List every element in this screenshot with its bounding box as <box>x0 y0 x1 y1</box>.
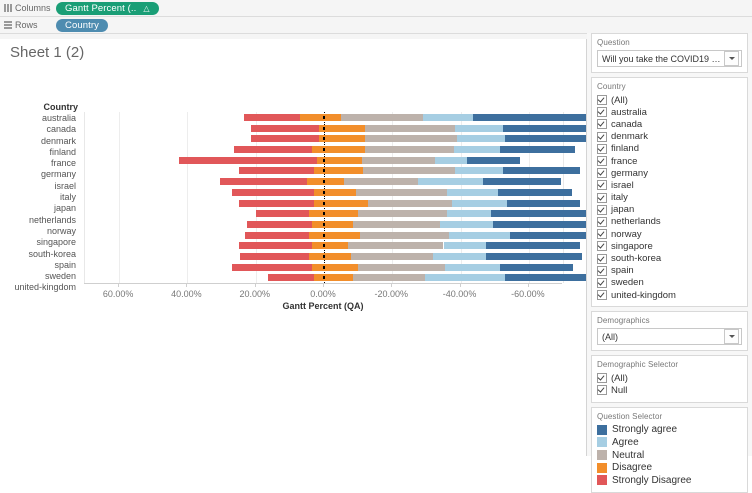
country-checkbox-south-korea[interactable]: south-korea <box>597 252 742 264</box>
bar-segment[interactable] <box>435 157 467 164</box>
checkbox-label: denmark <box>611 131 648 142</box>
bar-segment[interactable] <box>245 232 308 239</box>
legend-label: Disagree <box>612 462 652 473</box>
zero-marker <box>323 202 325 205</box>
checkbox-icon[interactable] <box>597 144 607 154</box>
legend-color-swatch <box>597 463 607 473</box>
bar-segment[interactable] <box>440 221 493 228</box>
page-title: Sheet 1 (2) <box>10 44 84 61</box>
bar-segment[interactable] <box>247 221 312 228</box>
zero-marker <box>323 244 325 247</box>
pill-gantt-percent[interactable]: Gantt Percent (.. △ <box>56 2 159 15</box>
checkbox-icon[interactable] <box>597 168 607 178</box>
legend-color-swatch <box>597 437 607 447</box>
bar-segment[interactable] <box>457 135 505 142</box>
bar-segment[interactable] <box>309 253 352 260</box>
bar-segment[interactable] <box>251 125 319 132</box>
bar-segment[interactable] <box>356 189 446 196</box>
country-checkbox-australia[interactable]: australia <box>597 106 742 118</box>
bar-segment[interactable] <box>309 210 359 217</box>
legend-item[interactable]: Agree <box>597 436 742 449</box>
columns-shelf-label: Columns <box>0 3 56 13</box>
bar-segment[interactable] <box>491 210 587 217</box>
bar-segment[interactable] <box>268 274 314 281</box>
legend-label: Agree <box>612 437 639 448</box>
pill-country-label: Country <box>65 20 99 31</box>
bar-segment[interactable] <box>486 253 582 260</box>
checkbox-icon[interactable] <box>597 373 607 383</box>
bar-segment[interactable] <box>444 242 487 249</box>
axis-tick <box>323 283 324 287</box>
bar-segment[interactable] <box>314 274 353 281</box>
checkbox-label: france <box>611 156 637 167</box>
bar-segment[interactable] <box>358 210 447 217</box>
country-checkbox-united-kingdom[interactable]: united-kingdom <box>597 289 742 301</box>
bar-segment[interactable] <box>500 264 573 271</box>
checkbox-label: (All) <box>611 95 628 106</box>
bar-segment[interactable] <box>314 167 364 174</box>
zero-marker <box>323 234 325 237</box>
bar-segment[interactable] <box>449 232 510 239</box>
bar-segment[interactable] <box>503 125 587 132</box>
tableau-workbook: Columns Gantt Percent (.. △ Rows Country… <box>0 0 752 456</box>
row-label: australia <box>0 113 78 124</box>
bar-segment[interactable] <box>433 253 486 260</box>
question-filter-card: Question Will you take the COVID19 vacci… <box>591 33 748 73</box>
row-label: france <box>0 158 78 169</box>
bar-segment[interactable] <box>493 221 587 228</box>
delta-icon: △ <box>143 4 149 13</box>
zero-marker <box>323 137 325 140</box>
bar-segment[interactable] <box>498 189 571 196</box>
legend-label: Strongly Disagree <box>612 475 691 486</box>
chevron-down-icon[interactable] <box>724 329 739 344</box>
zero-marker <box>323 169 325 172</box>
zero-marker <box>323 159 325 162</box>
zero-marker <box>323 127 325 130</box>
checkbox-label: united-kingdom <box>611 290 676 301</box>
axis-tick <box>118 283 119 287</box>
color-legend-list: Strongly agreeAgreeNeutralDisagreeStrong… <box>597 424 742 487</box>
columns-shelf[interactable]: Columns Gantt Percent (.. △ <box>0 0 752 17</box>
bar-segment[interactable] <box>368 200 452 207</box>
question-selector-title: Question Selector <box>597 412 742 421</box>
checkbox-label: Null <box>611 385 627 396</box>
country-checkbox-finland[interactable]: finland <box>597 143 742 155</box>
bar-segment[interactable] <box>312 242 348 249</box>
zero-marker <box>323 148 325 151</box>
country-checkbox-sweden[interactable]: sweden <box>597 277 742 289</box>
bar-segment[interactable] <box>445 264 500 271</box>
bar-segment[interactable] <box>423 114 473 121</box>
checkbox-icon[interactable] <box>597 156 607 166</box>
bar-segment[interactable] <box>314 189 357 196</box>
checkbox-label: israel <box>611 180 634 191</box>
bar-segment[interactable] <box>307 178 345 185</box>
bar-segment[interactable] <box>309 232 360 239</box>
bar-segment[interactable] <box>455 125 503 132</box>
bar-segment[interactable] <box>312 146 365 153</box>
checkbox-label: singapore <box>611 241 653 252</box>
checkbox-label: italy <box>611 192 628 203</box>
axis-tick <box>528 283 529 287</box>
country-checkbox-canada[interactable]: canada <box>597 118 742 130</box>
bar-segment[interactable] <box>314 200 369 207</box>
demographics-filter-dropdown[interactable]: (All) <box>597 328 742 345</box>
bar-segment[interactable] <box>251 135 319 142</box>
row-label: singapore <box>0 237 78 248</box>
demographic-selector-card: Demographic Selector (All)Null <box>591 355 748 402</box>
axis-tick <box>460 283 461 287</box>
bar-segment[interactable] <box>486 242 580 249</box>
checkbox-icon[interactable] <box>597 180 607 190</box>
bar-segment[interactable] <box>365 146 454 153</box>
row-label: denmark <box>0 136 78 147</box>
axis-tick <box>391 283 392 287</box>
zero-marker <box>323 191 325 194</box>
country-checkbox-france[interactable]: france <box>597 155 742 167</box>
bar-segment[interactable] <box>360 232 449 239</box>
checkbox-icon[interactable] <box>597 290 607 300</box>
bar-segment[interactable] <box>418 178 483 185</box>
checkbox-label: germany <box>611 168 648 179</box>
bar-segment[interactable] <box>365 135 457 142</box>
bar-segment[interactable] <box>239 242 312 249</box>
bar-segment[interactable] <box>365 125 455 132</box>
row-label: spain <box>0 260 78 271</box>
bar-segment[interactable] <box>505 135 587 142</box>
country-filter-card: Country (All)australiacanadadenmarkfinla… <box>591 77 748 307</box>
country-checkbox-all[interactable]: (All) <box>597 94 742 106</box>
checkbox-icon[interactable] <box>597 205 607 215</box>
x-axis: 60.00%40.00%20.00%0.00%-20.00%-40.00%-60… <box>84 283 562 284</box>
bar-segment[interactable] <box>510 232 587 239</box>
zero-marker <box>323 116 325 119</box>
bar-segment[interactable] <box>319 135 365 142</box>
checkbox-icon[interactable] <box>597 266 607 276</box>
x-axis-title: Gantt Percent (QA) <box>84 301 562 311</box>
legend-color-swatch <box>597 425 607 435</box>
bar-segment[interactable] <box>447 210 491 217</box>
legend-item[interactable]: Neutral <box>597 449 742 462</box>
checkbox-label: netherlands <box>611 216 661 227</box>
checkbox-label: canada <box>611 119 642 130</box>
row-label: norway <box>0 226 78 237</box>
bar-segment[interactable] <box>240 253 308 260</box>
checkbox-icon[interactable] <box>597 241 607 251</box>
bar-segment[interactable] <box>500 146 575 153</box>
question-filter-dropdown[interactable]: Will you take the COVID19 vaccine this w… <box>597 50 742 67</box>
legend-item[interactable]: Strongly agree <box>597 424 742 437</box>
country-checkbox-germany[interactable]: germany <box>597 167 742 179</box>
checkbox-icon[interactable] <box>597 254 607 264</box>
rows-shelf[interactable]: Rows Country <box>0 17 752 34</box>
bar-segment[interactable] <box>362 157 435 164</box>
legend-label: Neutral <box>612 450 644 461</box>
bar-segment[interactable] <box>452 200 507 207</box>
bar-segment[interactable] <box>300 114 341 121</box>
bar-segment[interactable] <box>232 264 312 271</box>
zero-marker <box>323 276 325 279</box>
legend-color-swatch <box>597 450 607 460</box>
bar-segment[interactable] <box>256 210 309 217</box>
axis-tick-label: 60.00% <box>103 289 134 299</box>
worksheet-canvas: Sheet 1 (2) Country australiacanadadenma… <box>0 39 587 456</box>
legend-label: Strongly agree <box>612 424 677 435</box>
row-label-list: australiacanadadenmarkfinlandfrancegerma… <box>0 113 78 294</box>
bar-segment[interactable] <box>244 114 300 121</box>
zero-marker <box>323 212 325 215</box>
row-label: finland <box>0 147 78 158</box>
legend-item[interactable]: Disagree <box>597 461 742 474</box>
bar-segment[interactable] <box>503 167 580 174</box>
pill-gantt-percent-label: Gantt Percent (.. <box>65 3 136 14</box>
rows-grid-icon <box>4 21 12 29</box>
axis-tick-label: -60.00% <box>511 289 545 299</box>
zero-marker <box>323 255 325 258</box>
checkbox-icon[interactable] <box>597 217 607 227</box>
checkbox-label: (All) <box>611 373 628 384</box>
row-label: south-korea <box>0 249 78 260</box>
bar-segment[interactable] <box>455 167 503 174</box>
bar-segment[interactable] <box>425 274 505 281</box>
bar-segment[interactable] <box>483 178 562 185</box>
checkbox-icon[interactable] <box>597 119 607 129</box>
chart-plot-area <box>84 112 564 283</box>
country-checkbox-denmark[interactable]: denmark <box>597 131 742 143</box>
columns-label-text: Columns <box>15 3 51 13</box>
zero-marker <box>323 180 325 183</box>
checkbox-icon[interactable] <box>597 107 607 117</box>
checkbox-label: south-korea <box>611 253 661 264</box>
bar-segment[interactable] <box>353 274 425 281</box>
demographics-filter-title: Demographics <box>597 316 742 325</box>
bar-segment[interactable] <box>344 178 417 185</box>
chevron-down-icon[interactable] <box>724 51 739 66</box>
axis-tick-label: -20.00% <box>375 289 409 299</box>
row-label: germany <box>0 169 78 180</box>
demographic-checkbox-null[interactable]: Null <box>597 384 742 396</box>
bar-segment[interactable] <box>353 221 440 228</box>
row-label: united-kingdom <box>0 282 78 293</box>
bar-segment[interactable] <box>239 200 314 207</box>
legend-color-swatch <box>597 475 607 485</box>
country-checkbox-netherlands[interactable]: netherlands <box>597 216 742 228</box>
demographics-filter-card: Demographics (All) <box>591 311 748 351</box>
checkbox-icon[interactable] <box>597 385 607 395</box>
bar-segment[interactable] <box>454 146 500 153</box>
checkbox-label: australia <box>611 107 647 118</box>
demographics-filter-value: (All) <box>602 332 724 342</box>
country-filter-title: Country <box>597 82 742 91</box>
country-checkbox-list: (All)australiacanadadenmarkfinlandfrance… <box>597 94 742 301</box>
row-label: japan <box>0 203 78 214</box>
bar-segment[interactable] <box>467 157 520 164</box>
pill-country[interactable]: Country <box>56 19 108 32</box>
bar-segment[interactable] <box>220 178 307 185</box>
bar-segment[interactable] <box>239 167 314 174</box>
country-checkbox-italy[interactable]: italy <box>597 192 742 204</box>
row-label: israel <box>0 181 78 192</box>
bar-segment[interactable] <box>179 157 317 164</box>
bar-segment[interactable] <box>447 189 498 196</box>
filters-panel: Question Will you take the COVID19 vacci… <box>587 33 752 456</box>
checkbox-icon[interactable] <box>597 229 607 239</box>
axis-tick <box>255 283 256 287</box>
demographic-selector-title: Demographic Selector <box>597 360 742 369</box>
bar-segment[interactable] <box>363 167 455 174</box>
country-checkbox-spain[interactable]: spain <box>597 265 742 277</box>
row-label: canada <box>0 124 78 135</box>
bar-segment[interactable] <box>319 125 365 132</box>
row-label: netherlands <box>0 215 78 226</box>
demographic-checkbox-list: (All)Null <box>597 372 742 396</box>
bar-segment[interactable] <box>348 242 444 249</box>
bar-segment[interactable] <box>312 264 358 271</box>
checkbox-icon[interactable] <box>597 132 607 142</box>
checkbox-label: finland <box>611 143 639 154</box>
row-label: sweden <box>0 271 78 282</box>
axis-tick-label: 0.00% <box>310 289 336 299</box>
bar-segment[interactable] <box>312 221 353 228</box>
checkbox-icon[interactable] <box>597 193 607 203</box>
bar-segment[interactable] <box>341 114 423 121</box>
country-checkbox-israel[interactable]: israel <box>597 179 742 191</box>
checkbox-icon[interactable] <box>597 95 607 105</box>
legend-item[interactable]: Strongly Disagree <box>597 474 742 487</box>
country-checkbox-japan[interactable]: japan <box>597 204 742 216</box>
columns-grid-icon <box>4 4 12 12</box>
bar-segment[interactable] <box>358 264 445 271</box>
checkbox-icon[interactable] <box>597 278 607 288</box>
question-filter-title: Question <box>597 38 742 47</box>
question-selector-card: Question Selector Strongly agreeAgreeNeu… <box>591 407 748 493</box>
zero-marker <box>323 266 325 269</box>
bar-segment[interactable] <box>505 274 587 281</box>
bar-segment[interactable] <box>473 114 587 121</box>
checkbox-label: japan <box>611 204 634 215</box>
row-label: italy <box>0 192 78 203</box>
demographic-checkbox-all[interactable]: (All) <box>597 372 742 384</box>
bar-segment[interactable] <box>351 253 433 260</box>
axis-tick-label: 20.00% <box>239 289 270 299</box>
checkbox-label: sweden <box>611 277 644 288</box>
axis-tick <box>186 283 187 287</box>
zero-marker <box>323 223 325 226</box>
bar-segment[interactable] <box>234 146 313 153</box>
row-field-header: Country <box>0 102 78 112</box>
bar-segment[interactable] <box>232 189 314 196</box>
axis-tick-label: -40.00% <box>443 289 477 299</box>
checkbox-label: spain <box>611 265 634 276</box>
rows-label-text: Rows <box>15 20 38 30</box>
rows-shelf-label: Rows <box>0 20 56 30</box>
axis-tick-label: 40.00% <box>171 289 202 299</box>
checkbox-label: norway <box>611 229 642 240</box>
bar-segment[interactable] <box>507 200 580 207</box>
country-checkbox-singapore[interactable]: singapore <box>597 240 742 252</box>
question-filter-value: Will you take the COVID19 vaccine this w… <box>602 54 724 64</box>
country-checkbox-norway[interactable]: norway <box>597 228 742 240</box>
